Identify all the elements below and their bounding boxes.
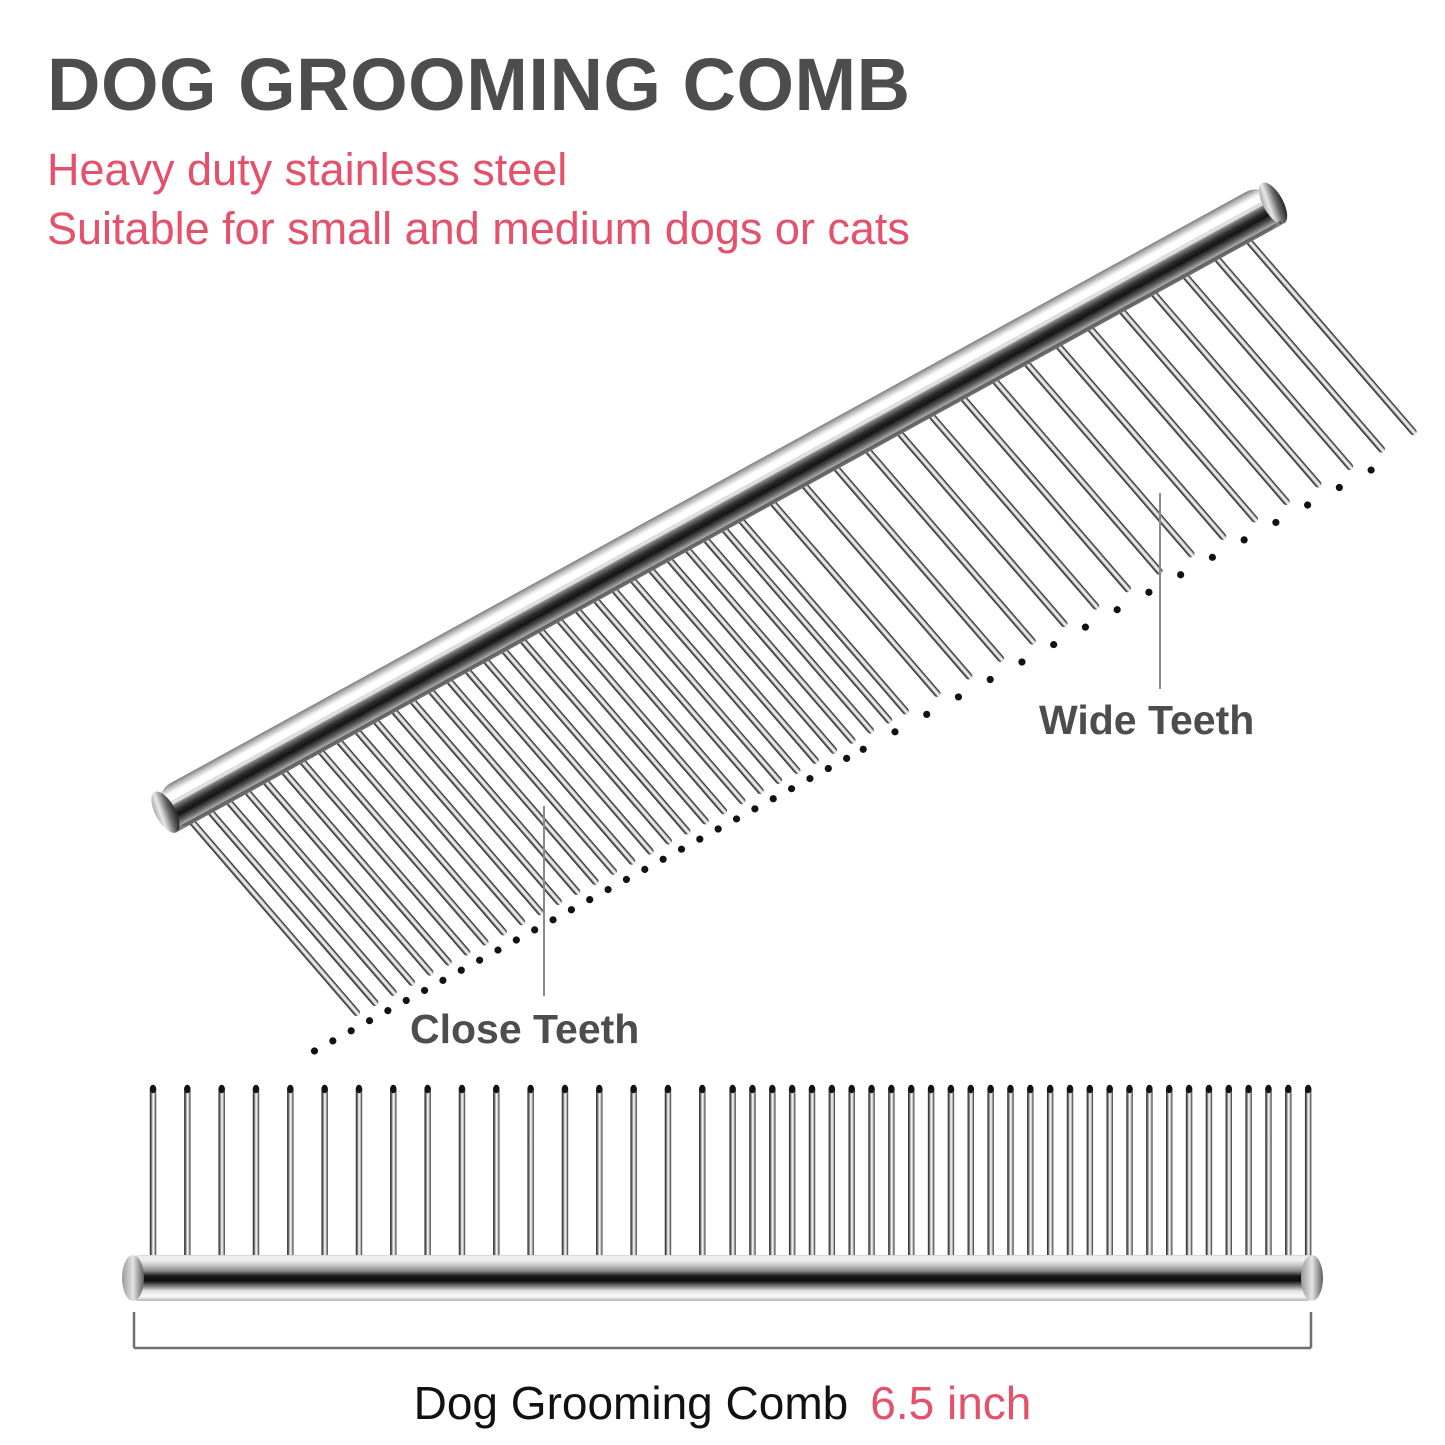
- caption-product-name: Dog Grooming Comb: [414, 1377, 849, 1429]
- size-dimension-bracket: [0, 0, 1445, 1445]
- size-caption: Dog Grooming Comb6.5 inch: [0, 1376, 1445, 1430]
- caption-size-value: 6.5 inch: [870, 1377, 1031, 1429]
- product-infographic: DOG GROOMING COMB Heavy duty stainless s…: [0, 0, 1445, 1445]
